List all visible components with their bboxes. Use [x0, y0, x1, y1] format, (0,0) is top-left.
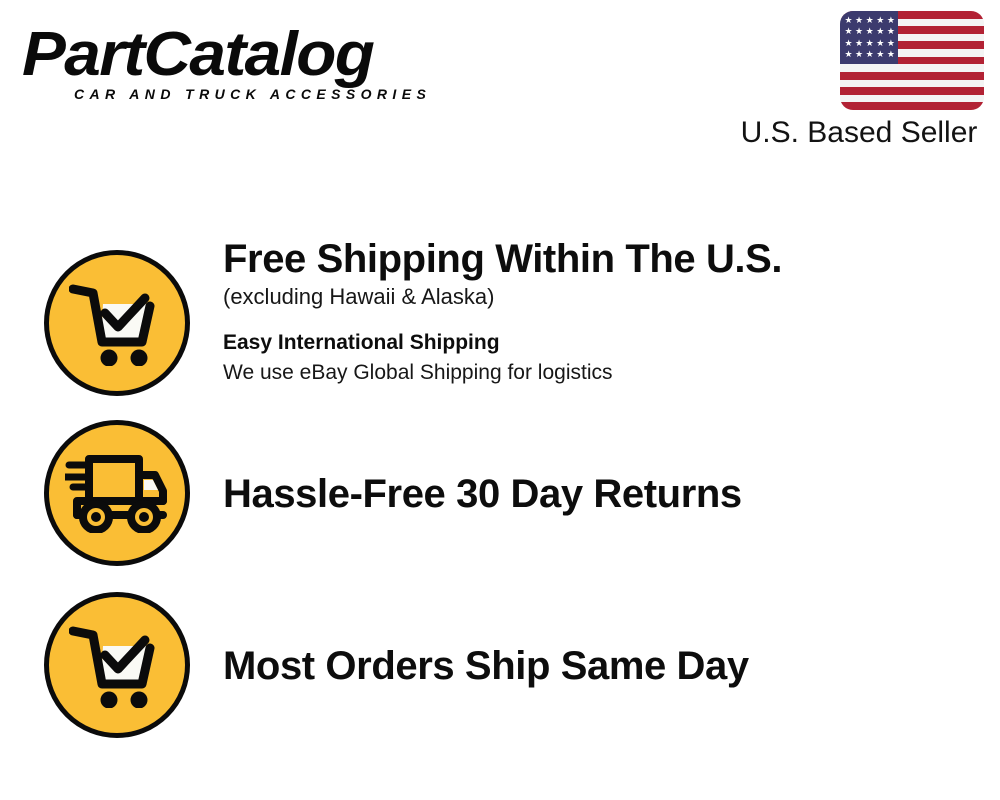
- shopping-cart-check-icon: [44, 250, 190, 396]
- benefit-description: We use eBay Global Shipping for logistic…: [223, 358, 983, 388]
- benefit-subheading: Easy International Shipping: [223, 328, 983, 358]
- shopping-cart-check-icon: [44, 592, 190, 738]
- benefits-list: Free Shipping Within The U.S. (excluding…: [0, 0, 1000, 800]
- delivery-truck-icon: [44, 420, 190, 566]
- benefit-text-block: Free Shipping Within The U.S. (excluding…: [223, 236, 983, 388]
- benefit-title: Most Orders Ship Same Day: [223, 643, 983, 689]
- benefit-text-block: Hassle-Free 30 Day Returns: [223, 471, 983, 517]
- benefit-subtitle: (excluding Hawaii & Alaska): [223, 282, 983, 312]
- benefit-title: Free Shipping Within The U.S.: [223, 236, 983, 282]
- benefit-title: Hassle-Free 30 Day Returns: [223, 471, 983, 517]
- benefit-text-block: Most Orders Ship Same Day: [223, 643, 983, 689]
